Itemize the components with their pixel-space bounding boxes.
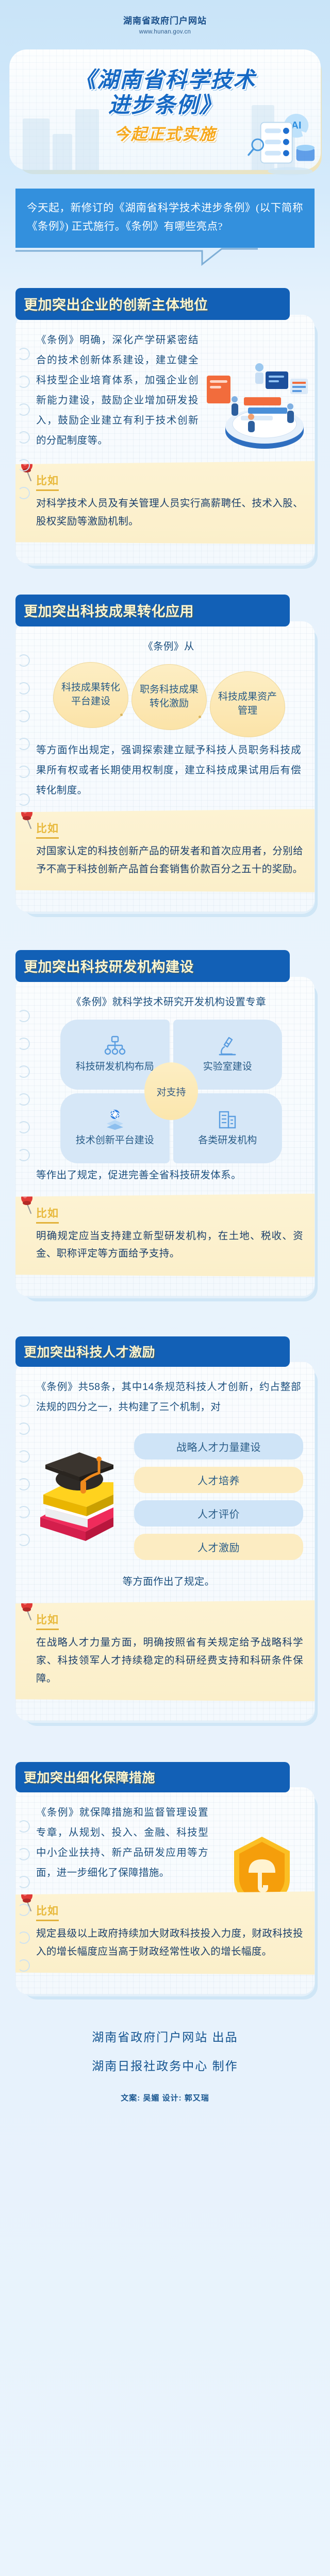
punch-holes [18, 654, 31, 821]
quad-label: 实验室建设 [203, 1060, 252, 1074]
isometric-innovation-platform-icon [204, 363, 309, 450]
section-2-card-stack: 《条例》从 科技成果转化平台建设 职务科技成果转化激励 科技成果资产管理 等方面… [15, 621, 315, 911]
pill-item: 人才激励 [134, 1534, 303, 1560]
graduation-cap-books-icon [36, 1440, 134, 1553]
hero-title: 《湖南省科学技术 进步条例》 [9, 49, 321, 118]
section-1-card-stack: 《条例》明确，深化产学研紧密结合的技术创新体系建设，建立健全科技型企业培育体系，… [15, 315, 315, 564]
microscope-icon [217, 1036, 238, 1056]
section-5-heading: 更加突出细化保障措施 [15, 1762, 290, 1792]
org-chart-icon [104, 1036, 126, 1056]
section-3-card: 《条例》就科学技术研究开发机构设置专章 [15, 977, 315, 1296]
quad-label: 技术创新平台建设 [76, 1134, 154, 1147]
section-5-card: 《条例》就保障措施和监督管理设置专章，从规划、投入、金融、科技型中小企业扶持、新… [15, 1787, 315, 1994]
section-4-note-text: 在战略人才力量方面，明确按照省有关规定给予战略科学家、科技领军人才持续稳定的科研… [36, 1634, 303, 1688]
section-5-card-stack: 《条例》就保障措施和监督管理设置专章，从规划、投入、金融、科技型中小企业扶持、新… [15, 1787, 315, 1994]
note-label: 比如 [36, 472, 59, 491]
ai-document-robot-icon: AI [247, 111, 319, 179]
footer-producer: 湖南省政府门户网站 出品 [0, 2027, 330, 2045]
svg-text:AI: AI [291, 120, 302, 131]
section-4: 更加突出科技人才激励 《条例》共58条，其中14条规范科技人才创新，约占整部法规… [15, 1336, 315, 1721]
section-3-heading: 更加突出科技研发机构建设 [15, 950, 290, 982]
section-2-note-text: 对国家认定的科技创新产品的研发者和首次应用者，分别给予不高于科技创新产品首台套销… [36, 843, 303, 878]
section-5-note: 比如 规定县级以上政府持续加大财政科技投入力度，财政科技投入的增长幅度应当高于财… [15, 1891, 315, 1974]
pill-item: 人才评价 [134, 1500, 303, 1527]
pill-item: 人才培养 [134, 1467, 303, 1493]
section-2: 更加突出科技成果转化应用 《条例》从 科技成果转化平台建设 职务科技成果转化激励 [15, 595, 315, 911]
note-label: 比如 [36, 1205, 59, 1224]
page-footer: 湖南省政府门户网站 出品 湖南日报社政务中心 制作 文案: 吴媚 设计: 郭又瑞 [0, 2027, 330, 2139]
section-1: 更加突出企业的创新主体地位 [15, 288, 315, 564]
pill-list: 战略人才力量建设 人才培养 人才评价 人才激励 [134, 1433, 306, 1560]
section-4-note: 比如 在战略人才力量方面，明确按照省有关规定给予战略科学家、科技领军人才持续稳定… [15, 1600, 315, 1701]
note-label: 比如 [36, 1612, 59, 1630]
section-3-lead: 《条例》就科学技术研究开发机构设置专章 [36, 992, 306, 1012]
section-2-blob-group: 科技成果转化平台建设 职务科技成果转化激励 科技成果资产管理 [36, 662, 306, 737]
section-5-note-text: 规定县级以上政府持续加大财政科技投入力度，财政科技投入的增长幅度应当高于财政经常… [36, 1925, 303, 1961]
blob-item: 科技成果转化平台建设 [53, 662, 128, 728]
section-2-body: 等方面作出规定，强调探索建立赋予科技人员职务科技成果所有权或者长期使用权制度，建… [36, 740, 306, 801]
blob-item: 科技成果资产管理 [210, 671, 285, 737]
intro-connector [15, 248, 315, 275]
blob-item: 职务科技成果转化激励 [131, 664, 207, 730]
section-3-note-text: 明确规定应当支持建立新型研发机构，在土地、税收、资金、职称评定等方面给予支持。 [36, 1228, 303, 1263]
punch-holes [18, 1820, 31, 1987]
layers-atom-icon [104, 1109, 126, 1130]
pushpin-icon [20, 1191, 36, 1214]
pushpin-icon [20, 1597, 36, 1621]
section-4-card: 《条例》共58条，其中14条规范科技人才创新，约占整部法规的四分之一，共构建了三… [15, 1362, 315, 1721]
punch-holes [18, 1395, 31, 1562]
infographic-page: 湖南省政府门户网站 www.hunan.gov.cn 《湖南省科学技术 进步条例… [0, 0, 330, 2576]
section-4-body: 《条例》共58条，其中14条规范科技人才创新，约占整部法规的四分之一，共构建了三… [36, 1377, 306, 1417]
section-1-heading: 更加突出企业的创新主体地位 [15, 288, 290, 320]
note-label: 比如 [36, 820, 59, 839]
punch-holes [18, 348, 31, 515]
footer-credit: 文案: 吴媚 设计: 郭又瑞 [0, 2092, 330, 2103]
section-1-card: 《条例》明确，深化产学研紧密结合的技术创新体系建设，建立健全科技型企业培育体系，… [15, 315, 315, 564]
site-header: 湖南省政府门户网站 www.hunan.gov.cn [0, 0, 330, 35]
pill-item: 战略人才力量建设 [134, 1433, 303, 1460]
section-2-heading: 更加突出科技成果转化应用 [15, 595, 290, 626]
section-5: 更加突出细化保障措施 [15, 1762, 315, 1994]
section-3-card-stack: 《条例》就科学技术研究开发机构设置专章 [15, 977, 315, 1296]
section-4-body-2: 等方面作出了规定。 [36, 1572, 306, 1592]
punch-holes [18, 1010, 31, 1177]
section-4-card-stack: 《条例》共58条，其中14条规范科技人才创新，约占整部法规的四分之一，共构建了三… [15, 1362, 315, 1721]
section-1-note: 比如 对科学技术人员及有关管理人员实行高薪聘任、技术入股、股权奖励等激励机制。 [15, 461, 315, 544]
quad-label: 各类研发机构 [198, 1134, 257, 1147]
footer-creator: 湖南日报社政务中心 制作 [0, 2056, 330, 2074]
section-4-pill-diagram: 战略人才力量建设 人才培养 人才评价 人才激励 [36, 1425, 306, 1569]
section-3-note: 比如 明确规定应当支持建立新型研发机构，在土地、税收、资金、职称评定等方面给予支… [15, 1194, 315, 1277]
office-building-icon [217, 1109, 238, 1130]
site-url: www.hunan.gov.cn [0, 29, 330, 35]
section-2-lead: 《条例》从 [36, 637, 306, 657]
section-2-note: 比如 对国家认定的科技创新产品的研发者和首次应用者，分别给予不高于科技创新产品首… [15, 809, 315, 892]
hero-banner: 《湖南省科学技术 进步条例》 今起正式实施 AI [9, 49, 321, 170]
quad-label: 科技研发机构布局 [76, 1060, 154, 1074]
note-label: 比如 [36, 1903, 59, 1921]
intro-text: 今天起，新修订的《湖南省科学技术进步条例》(以下简称《条例》) 正式施行。《条例… [15, 189, 315, 248]
section-3-quadrant-diagram: 科技研发机构布局 实验室建设 [60, 1020, 282, 1163]
section-4-heading: 更加突出科技人才激励 [15, 1336, 290, 1367]
section-1-note-text: 对科学技术人员及有关管理人员实行高薪聘任、技术入股、股权奖励等激励机制。 [36, 495, 303, 531]
site-name: 湖南省政府门户网站 [0, 13, 330, 26]
quad-center-label: 对支持 [144, 1062, 198, 1120]
section-2-card: 《条例》从 科技成果转化平台建设 职务科技成果转化激励 科技成果资产管理 等方面… [15, 621, 315, 911]
section-3: 更加突出科技研发机构建设 《条例》就科学技术研究开发机构设置专章 [15, 950, 315, 1296]
intro-block: 今天起，新修订的《湖南省科学技术进步条例》(以下简称《条例》) 正式施行。《条例… [15, 189, 315, 275]
section-3-body: 等作出了规定，促进完善全省科技研发体系。 [36, 1165, 306, 1185]
